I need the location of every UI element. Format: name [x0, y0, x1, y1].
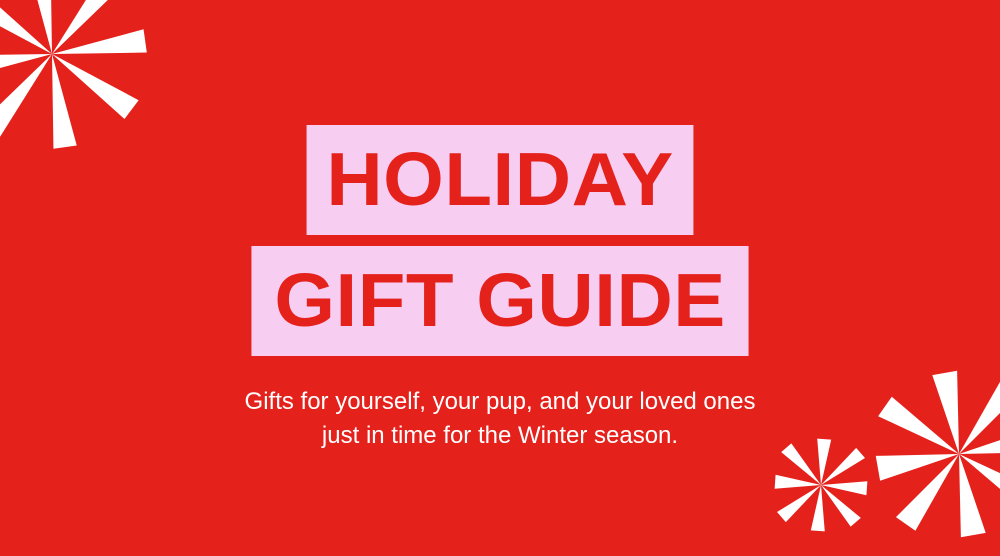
banner-content: HOLIDAY GIFT GUIDE Gifts for yourself, y…	[0, 0, 1000, 556]
subtitle-line-2: just in time for the Winter season.	[245, 419, 756, 453]
subtitle-line-1: Gifts for yourself, your pup, and your l…	[245, 385, 756, 419]
headline-line-1: HOLIDAY	[306, 125, 693, 235]
headline-line-2: GIFT GUIDE	[251, 246, 748, 356]
banner-subtitle: Gifts for yourself, your pup, and your l…	[245, 385, 756, 453]
holiday-gift-guide-banner: HOLIDAY GIFT GUIDE Gifts for yourself, y…	[0, 0, 1000, 556]
